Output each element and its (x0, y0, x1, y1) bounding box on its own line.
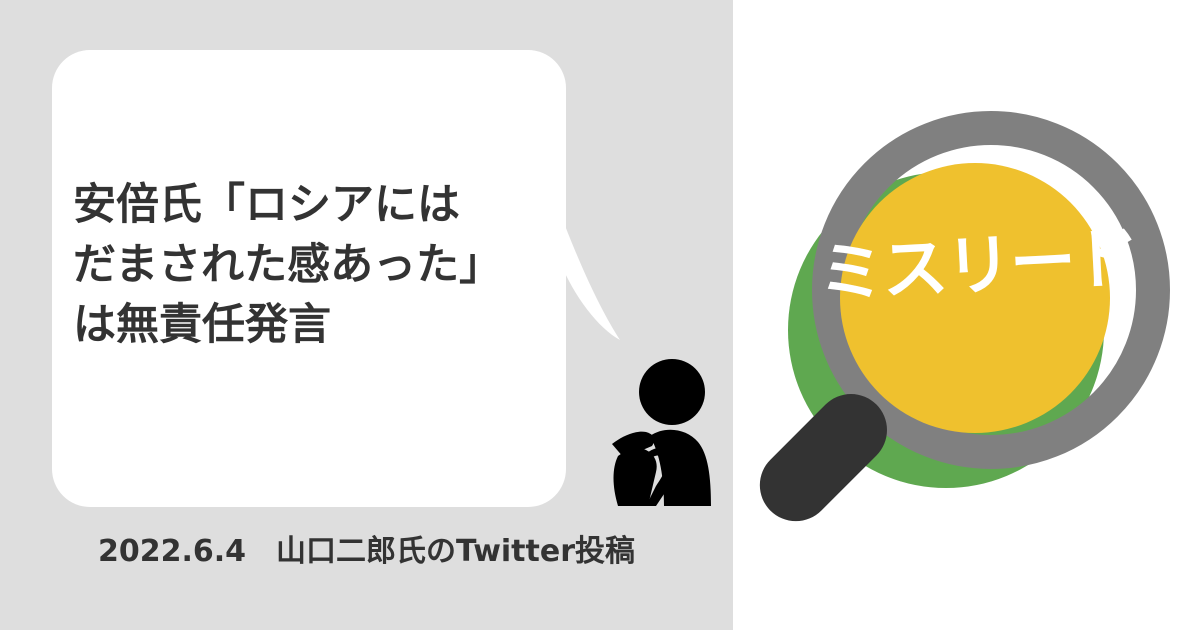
verdict-panel: ミスリード (733, 0, 1200, 630)
quote-panel: 安倍氏「ロシアには だまされた感あった」 は無責任発言 2022.6.4 山口二… (0, 0, 733, 630)
verdict-label: ミスリード (816, 220, 1115, 313)
fact-check-card: 安倍氏「ロシアには だまされた感あった」 は無責任発言 2022.6.4 山口二… (0, 0, 1200, 630)
source-caption: 2022.6.4 山口二郎氏のTwitter投稿 (0, 530, 733, 574)
person-speaking-icon (612, 358, 716, 508)
magnifying-glass-icon (733, 0, 1200, 630)
quote-headline: 安倍氏「ロシアには だまされた感あった」 は無責任発言 (73, 175, 553, 355)
